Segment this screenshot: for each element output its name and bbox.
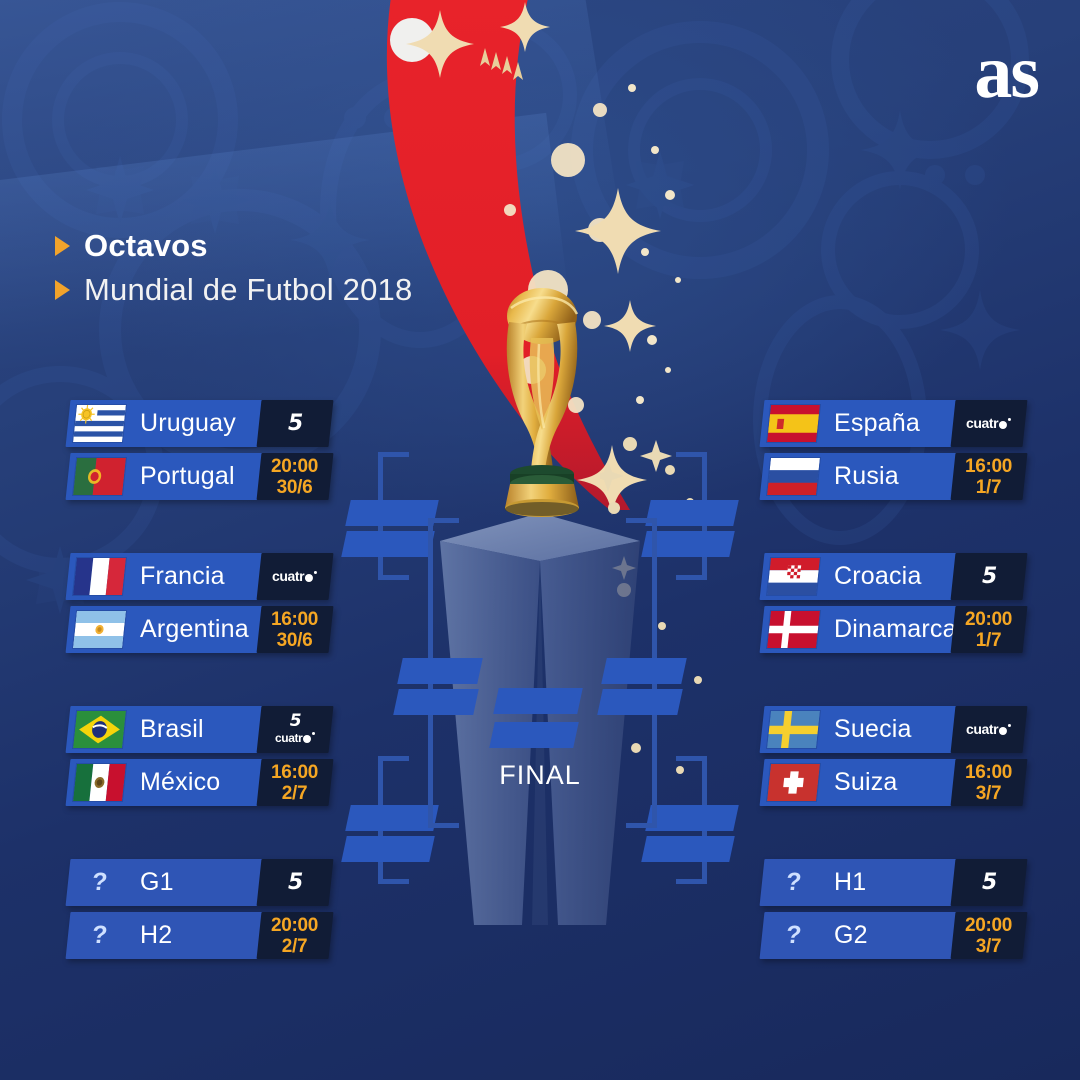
telecinco-5-logo: 5 (982, 870, 996, 895)
match-time: 20:0030/6 (271, 457, 318, 497)
quarterfinal-slot-left-2a (345, 805, 439, 831)
match-row-top[interactable]: ? G1 5 (68, 859, 330, 906)
channel-logos: cuatr (966, 416, 1011, 432)
page-subtitle: Mundial de Futbol 2018 (84, 272, 412, 308)
flag-argentina-icon (73, 611, 126, 648)
quarterfinal-slot-left-1a (345, 500, 439, 526)
match-row-top[interactable]: Brasil 5cuatr (68, 706, 330, 753)
match-date: 30/6 (271, 478, 318, 497)
match-time: 20:003/7 (965, 916, 1012, 956)
match-time: 20:001/7 (965, 610, 1012, 650)
match-row-bottom[interactable]: ? G2 20:003/7 (762, 912, 1024, 959)
flag-brasil-icon (73, 711, 126, 748)
match-time: 16:002/7 (271, 763, 318, 803)
telecinco-5-logo: 5 (288, 870, 302, 895)
match-row-bottom[interactable]: Dinamarca 20:001/7 (762, 606, 1024, 653)
match-row-bottom[interactable]: Suiza 16:003/7 (762, 759, 1024, 806)
flag-uruguay-icon (73, 405, 126, 442)
channel-logos: cuatr (272, 569, 317, 585)
match-card-match-2: Francia cuatr Argentina 16:0030/6 (68, 553, 330, 659)
quarterfinal-slot-right-2a (645, 805, 739, 831)
flag-francia-icon (73, 558, 126, 595)
match-row-top[interactable]: Uruguay 5 (68, 400, 330, 447)
flag-portugal-icon (73, 458, 126, 495)
world-cup-trophy-icon (487, 278, 597, 523)
triangle-right-icon (55, 236, 70, 256)
match-row-bottom[interactable]: Rusia 16:001/7 (762, 453, 1024, 500)
match-time: 16:0030/6 (271, 610, 318, 650)
match-date: 30/6 (271, 631, 318, 650)
cuatro-logo: cuatr (966, 721, 1011, 737)
quarterfinal-slot-right-2b (641, 836, 735, 862)
telecinco-5-logo: 5 (982, 564, 996, 589)
channel-logos: 5cuatr (275, 713, 315, 746)
row-badge[interactable]: 20:003/7 (951, 912, 1028, 959)
semifinal-slot-right-b (597, 689, 683, 715)
match-row-bottom[interactable]: México 16:002/7 (68, 759, 330, 806)
flag-suiza-icon (767, 764, 820, 801)
match-row-top[interactable]: Suecia cuatr (762, 706, 1024, 753)
channel-logos: 5 (982, 872, 996, 894)
match-date: 2/7 (271, 937, 318, 956)
match-row-bottom[interactable]: Portugal 20:0030/6 (68, 453, 330, 500)
row-badge[interactable]: cuatr (951, 400, 1028, 447)
header-title-row: Octavos (55, 228, 412, 264)
row-badge[interactable]: 20:001/7 (951, 606, 1028, 653)
row-badge[interactable]: 5 (257, 400, 334, 447)
match-date: 1/7 (965, 478, 1012, 497)
cuatro-logo: cuatr (275, 731, 315, 745)
channel-logos: cuatr (966, 722, 1011, 738)
match-card-match-5: España cuatr Rusia 16:001/7 (762, 400, 1024, 506)
match-time: 16:003/7 (965, 763, 1012, 803)
semifinal-slot-right-a (601, 658, 687, 684)
channel-logos: 5 (288, 872, 302, 894)
cuatro-logo: cuatr (966, 415, 1011, 431)
final-slot-a (493, 688, 583, 714)
match-date: 2/7 (271, 784, 318, 803)
match-row-top[interactable]: España cuatr (762, 400, 1024, 447)
row-badge[interactable]: 20:0030/6 (257, 453, 334, 500)
flag-croacia-icon (767, 558, 820, 595)
row-badge[interactable]: 16:0030/6 (257, 606, 334, 653)
match-card-match-7: Suecia cuatr Suiza 16:003/7 (762, 706, 1024, 812)
quarterfinal-slot-left-2b (341, 836, 435, 862)
question-mark-icon: ? (767, 868, 819, 897)
header-subtitle-row: Mundial de Futbol 2018 (55, 272, 412, 308)
row-badge[interactable]: 5 (951, 859, 1028, 906)
telecinco-5-logo: 5 (288, 411, 302, 436)
page-title: Octavos (84, 228, 208, 264)
flag-suecia-icon (767, 711, 820, 748)
telecinco-5-logo: 5 (290, 711, 301, 731)
row-badge[interactable]: 5 (257, 859, 334, 906)
row-badge[interactable]: 16:001/7 (951, 453, 1028, 500)
row-badge[interactable]: cuatr (951, 706, 1028, 753)
match-date: 3/7 (965, 784, 1012, 803)
match-time: 20:002/7 (271, 916, 318, 956)
final-slot-b (489, 722, 579, 748)
row-badge[interactable]: 20:002/7 (257, 912, 334, 959)
triangle-right-icon (55, 280, 70, 300)
match-time: 16:001/7 (965, 457, 1012, 497)
channel-logos: 5 (982, 566, 996, 588)
row-badge[interactable]: 16:002/7 (257, 759, 334, 806)
question-mark-icon: ? (73, 868, 125, 897)
match-row-top[interactable]: ? H1 5 (762, 859, 1024, 906)
quarterfinal-slot-left-1b (341, 531, 435, 557)
match-row-top[interactable]: Francia cuatr (68, 553, 330, 600)
row-badge[interactable]: 16:003/7 (951, 759, 1028, 806)
header-titles: Octavos Mundial de Futbol 2018 (55, 228, 412, 316)
flag-mexico-icon (73, 764, 126, 801)
row-badge[interactable]: 5 (951, 553, 1028, 600)
match-row-bottom[interactable]: Argentina 16:0030/6 (68, 606, 330, 653)
question-mark-icon: ? (767, 921, 819, 950)
match-row-bottom[interactable]: ? H2 20:002/7 (68, 912, 330, 959)
match-card-match-1: Uruguay 5 Portugal 20:0030/6 (68, 400, 330, 506)
match-card-match-3: Brasil 5cuatr México 16:002/7 (68, 706, 330, 812)
semifinal-slot-left-b (393, 689, 479, 715)
question-mark-icon: ? (73, 921, 125, 950)
quarterfinal-slot-right-1a (645, 500, 739, 526)
match-card-match-8: ? H1 5 ? G2 20:003/7 (762, 859, 1024, 965)
as-logo: as (974, 34, 1038, 110)
flag-rusia-icon (767, 458, 820, 495)
match-row-top[interactable]: Croacia 5 (762, 553, 1024, 600)
match-date: 1/7 (965, 631, 1012, 650)
trophy-pedestal (430, 505, 650, 925)
semifinal-slot-left-a (397, 658, 483, 684)
flag-dinamarca-icon (767, 611, 820, 648)
channel-logos: 5 (288, 413, 302, 435)
match-card-match-4: ? G1 5 ? H2 20:002/7 (68, 859, 330, 965)
flag-espana-icon (767, 405, 820, 442)
infographic-canvas: FINAL as Octavos Mundial de Futbol 2018 (0, 0, 1080, 1080)
match-date: 3/7 (965, 937, 1012, 956)
cuatro-logo: cuatr (272, 568, 317, 584)
row-badge[interactable]: cuatr (257, 553, 334, 600)
match-card-match-6: Croacia 5 Dinamarca 20:001/7 (762, 553, 1024, 659)
row-badge[interactable]: 5cuatr (257, 706, 334, 753)
